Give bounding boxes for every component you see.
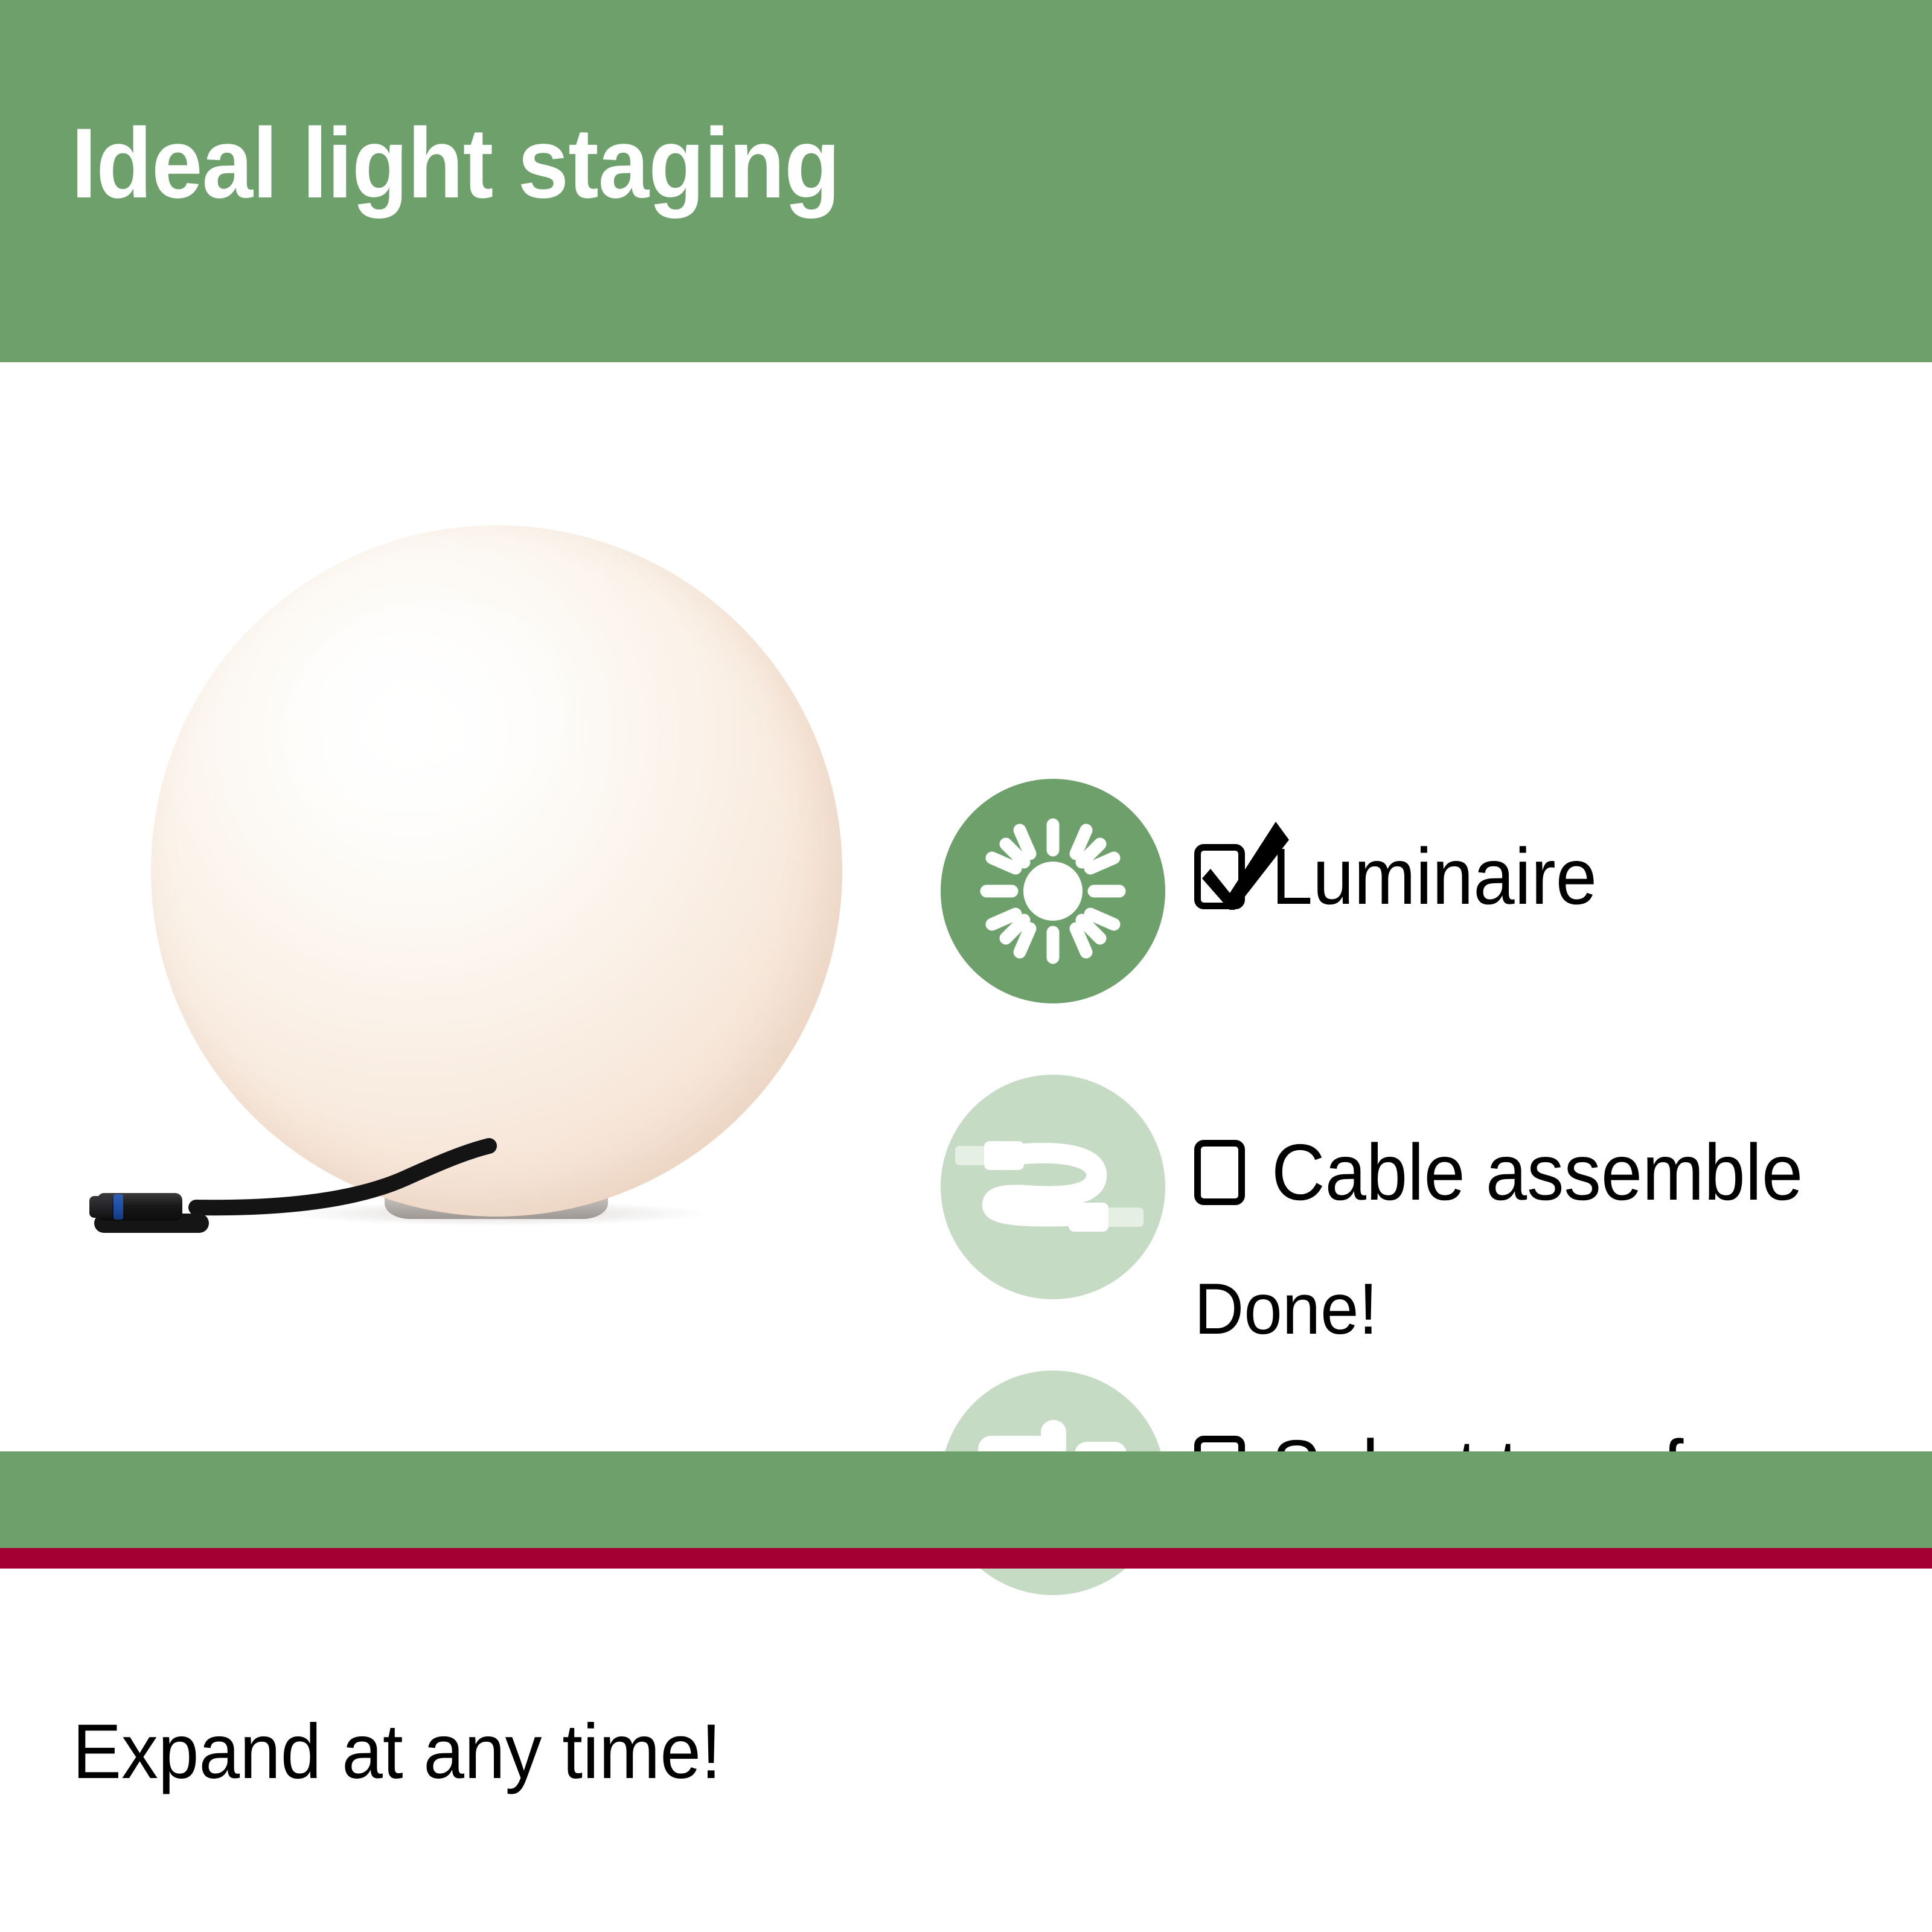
checklist-label-group-cable-assemble[interactable]: Cable assemble — [1194, 1133, 1843, 1212]
checklist-item-label: Cable assemble — [1271, 1133, 1803, 1212]
product-image-globe-lamp — [91, 513, 906, 1328]
footer-green-bar — [0, 1451, 1932, 1548]
main-content-panel: Luminaire Cable assemble — [0, 362, 1932, 1451]
connector-cap — [89, 1196, 112, 1218]
lamp-cable — [91, 1135, 513, 1232]
checkbox-cable-assemble[interactable] — [1194, 1140, 1245, 1205]
sun-icon-badge — [941, 779, 1165, 1003]
done-status-text: Done! — [1194, 1273, 1378, 1345]
page-title: Ideal light staging — [71, 106, 840, 220]
checklist-row-cable-assemble[interactable]: Cable assemble — [941, 1075, 1919, 1304]
cable-icon — [941, 1075, 1165, 1299]
header-bar: Ideal light staging — [0, 0, 1932, 362]
lamp-globe — [151, 525, 842, 1217]
checklist-label-group-luminaire[interactable]: Luminaire — [1194, 837, 1622, 916]
checkbox-luminaire[interactable] — [1194, 844, 1245, 909]
connector-blue-ring — [114, 1194, 123, 1220]
globe-highlight — [283, 601, 601, 864]
sun-icon — [941, 779, 1165, 1003]
checklist-item-label: Luminaire — [1271, 837, 1597, 916]
footer-red-bar — [0, 1548, 1932, 1569]
cable-icon-badge — [941, 1075, 1165, 1299]
footer-note-text: Expand at any time! — [72, 1713, 721, 1791]
checklist-row-luminaire[interactable]: Luminaire — [941, 779, 1919, 1008]
